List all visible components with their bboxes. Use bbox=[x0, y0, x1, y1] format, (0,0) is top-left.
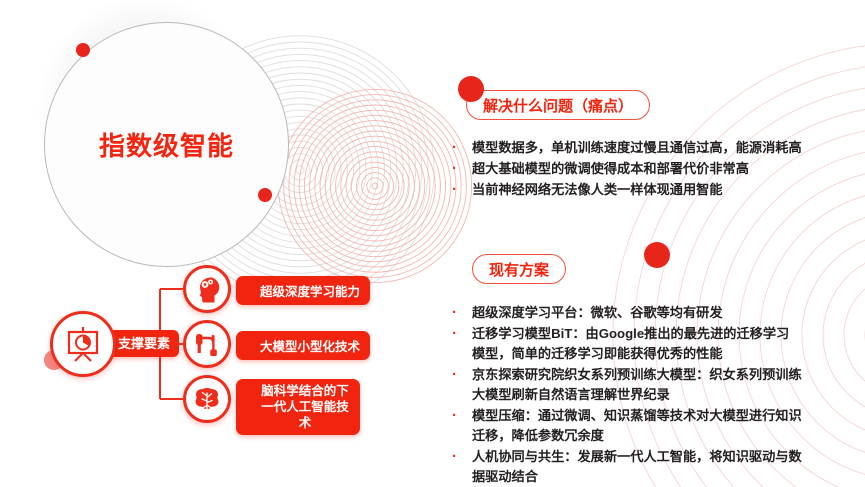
section-bullets-2: ·超级深度学习平台：微软、谷歌等均有研发·迁移学习模型BiT：由Google推出… bbox=[452, 303, 802, 487]
support-elements-diagram: 支撑要素 超级深度学习能力 bbox=[40, 272, 420, 422]
bullet-item: ·迁移学习模型BiT：由Google推出的最先进的迁移学习模型，简单的迁移学习即… bbox=[452, 324, 802, 364]
bullet-text: 模型数据多，单机训练速度过慢且通信过高，能源消耗高 bbox=[472, 138, 802, 158]
bullet-marker-icon: · bbox=[452, 406, 472, 426]
bullet-item: ·京东探索研究院织女系列预训练大模型：织女系列预训练大模型刷新自然语言理解世界纪… bbox=[452, 365, 802, 405]
head-gears-icon bbox=[183, 265, 231, 313]
section-badge-dot-1-icon bbox=[458, 76, 484, 102]
bullet-marker-icon: · bbox=[452, 447, 472, 467]
section-badge-1: 解决什么问题（痛点） bbox=[466, 90, 650, 120]
decor-dot-icon-top bbox=[76, 43, 90, 57]
brain-icon bbox=[183, 375, 231, 423]
slide-canvas: 指数级智能 支撑要素 bbox=[0, 0, 865, 487]
bullet-marker-icon: · bbox=[452, 303, 472, 323]
bullet-item: ·超级深度学习平台：微软、谷歌等均有研发 bbox=[452, 303, 802, 323]
bullet-text: 模型压缩：通过微调、知识蒸馏等技术对大模型进行知识迁移，降低参数冗余度 bbox=[472, 406, 802, 446]
section-badge-2: 现有方案 bbox=[472, 254, 566, 284]
page-title: 指数级智能 bbox=[44, 126, 289, 163]
section-badge-dot-2-icon bbox=[644, 242, 670, 268]
bullet-item: ·模型数据多，单机训练速度过慢且通信过高，能源消耗高 bbox=[452, 138, 802, 158]
bullet-text: 当前神经网络无法像人类一样体现通用智能 bbox=[472, 180, 723, 200]
bullet-marker-icon: · bbox=[452, 324, 472, 344]
bullet-item: ·人机协同与共生：发展新一代人工智能，将知识驱动与数据驱动结合 bbox=[452, 447, 802, 487]
bullet-item: ·超大基础模型的微调使得成本和部署代价非常高 bbox=[452, 159, 802, 179]
bullet-marker-icon: · bbox=[452, 365, 472, 385]
branch-label-3: 脑科学结合的下一代人工智能技术 bbox=[236, 379, 360, 435]
bullet-item: ·当前神经网络无法像人类一样体现通用智能 bbox=[452, 180, 802, 200]
bullet-marker-icon: · bbox=[452, 180, 472, 200]
decor-dot-icon-bottom bbox=[258, 188, 272, 202]
bullet-text: 超级深度学习平台：微软、谷歌等均有研发 bbox=[472, 303, 723, 323]
bullet-text: 京东探索研究院织女系列预训练大模型：织女系列预训练大模型刷新自然语言理解世界纪录 bbox=[472, 365, 802, 405]
bullet-text: 超大基础模型的微调使得成本和部署代价非常高 bbox=[472, 159, 749, 179]
bullet-text: 人机协同与共生：发展新一代人工智能，将知识驱动与数据驱动结合 bbox=[472, 447, 802, 487]
presentation-chart-icon bbox=[50, 311, 116, 377]
bullet-item: ·模型压缩：通过微调、知识蒸馏等技术对大模型进行知识迁移，降低参数冗余度 bbox=[452, 406, 802, 446]
bullet-text: 迁移学习模型BiT：由Google推出的最先进的迁移学习模型，简单的迁移学习即能… bbox=[472, 324, 802, 364]
branch-label-1: 超级深度学习能力 bbox=[236, 276, 370, 305]
section-bullets-1: ·模型数据多，单机训练速度过慢且通信过高，能源消耗高·超大基础模型的微调使得成本… bbox=[452, 138, 802, 201]
usb-connector-icon bbox=[183, 320, 231, 368]
bullet-marker-icon: · bbox=[452, 138, 472, 158]
branch-label-2: 大模型小型化技术 bbox=[236, 331, 370, 360]
bullet-marker-icon: · bbox=[452, 159, 472, 179]
